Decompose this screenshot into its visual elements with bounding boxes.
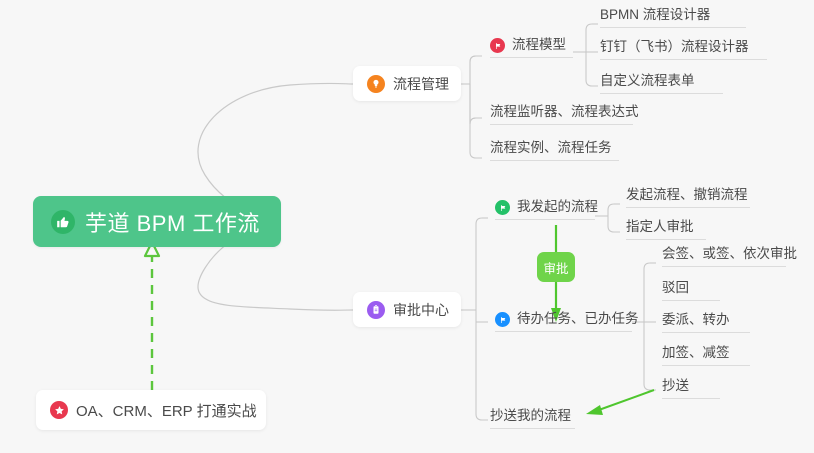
node-reject[interactable]: 驳回 xyxy=(662,281,720,301)
node-my-initiated-process[interactable]: 我发起的流程 xyxy=(495,200,595,220)
bottom-note-node[interactable]: OA、CRM、ERP 打通实战 xyxy=(36,390,266,430)
node-label-custom-process-form: 自定义流程表单 xyxy=(600,73,695,89)
root-node[interactable]: 芋道 BPM 工作流 xyxy=(33,196,281,247)
node-label-cc-to-me-process: 抄送我的流程 xyxy=(490,408,571,424)
node-label-bpmn-designer: BPMN 流程设计器 xyxy=(600,7,710,23)
root-label: 芋道 BPM 工作流 xyxy=(85,206,260,238)
node-process-model[interactable]: 流程模型 xyxy=(490,38,573,58)
node-cc-to-me-process[interactable]: 抄送我的流程 xyxy=(490,409,575,429)
node-label-add-remove-sign: 加签、减签 xyxy=(662,345,730,361)
branch-label-process-management: 流程管理 xyxy=(393,74,449,94)
node-start-cancel-process[interactable]: 发起流程、撤销流程 xyxy=(626,188,750,208)
approve-chip-label: 审批 xyxy=(543,258,568,277)
node-label-countersign-or-sequential: 会签、或签、依次审批 xyxy=(662,246,797,262)
node-label-designated-approver: 指定人审批 xyxy=(626,219,694,235)
node-label-start-cancel-process: 发起流程、撤销流程 xyxy=(626,187,748,203)
node-process-instance-task[interactable]: 流程实例、流程任务 xyxy=(490,141,619,161)
node-custom-process-form[interactable]: 自定义流程表单 xyxy=(600,74,723,94)
node-label-my-initiated-process: 我发起的流程 xyxy=(517,199,598,215)
flag-icon xyxy=(490,38,505,53)
approve-chip[interactable]: 审批 xyxy=(537,252,575,282)
node-designated-approver[interactable]: 指定人审批 xyxy=(626,220,706,240)
node-process-listener-expression[interactable]: 流程监听器、流程表达式 xyxy=(490,105,633,125)
clipboard-icon xyxy=(367,301,385,319)
flag-icon xyxy=(495,200,510,215)
node-label-reject: 驳回 xyxy=(662,280,689,296)
node-label-process-listener-expression: 流程监听器、流程表达式 xyxy=(490,104,639,120)
mindmap-canvas: 芋道 BPM 工作流 流程管理 流程模型 BPMN 流程设计器 钉钉（飞书）流程… xyxy=(0,0,814,453)
node-cc[interactable]: 抄送 xyxy=(662,379,720,399)
node-add-remove-sign[interactable]: 加签、减签 xyxy=(662,346,750,366)
bottom-note-label: OA、CRM、ERP 打通实战 xyxy=(76,400,257,421)
star-icon xyxy=(50,401,68,419)
node-bpmn-designer[interactable]: BPMN 流程设计器 xyxy=(600,8,746,28)
node-label-delegate-transfer: 委派、转办 xyxy=(662,312,730,328)
node-countersign-or-sequential[interactable]: 会签、或签、依次审批 xyxy=(662,247,786,267)
thumbs-up-icon xyxy=(51,210,75,234)
node-label-process-model: 流程模型 xyxy=(512,37,566,53)
branch-node-process-management[interactable]: 流程管理 xyxy=(353,66,461,101)
flag-icon xyxy=(495,312,510,327)
node-dingtalk-feishu-designer[interactable]: 钉钉（飞书）流程设计器 xyxy=(600,40,767,60)
branch-node-approval-center[interactable]: 审批中心 xyxy=(353,292,461,327)
lightbulb-pin-icon xyxy=(367,75,385,93)
node-label-cc: 抄送 xyxy=(662,378,689,394)
node-label-todo-done-tasks: 待办任务、已办任务 xyxy=(517,311,639,327)
branch-label-approval-center: 审批中心 xyxy=(393,300,449,320)
node-delegate-transfer[interactable]: 委派、转办 xyxy=(662,313,750,333)
node-label-dingtalk-feishu-designer: 钉钉（飞书）流程设计器 xyxy=(600,39,749,55)
node-label-process-instance-task: 流程实例、流程任务 xyxy=(490,140,612,156)
node-todo-done-tasks[interactable]: 待办任务、已办任务 xyxy=(495,312,632,332)
